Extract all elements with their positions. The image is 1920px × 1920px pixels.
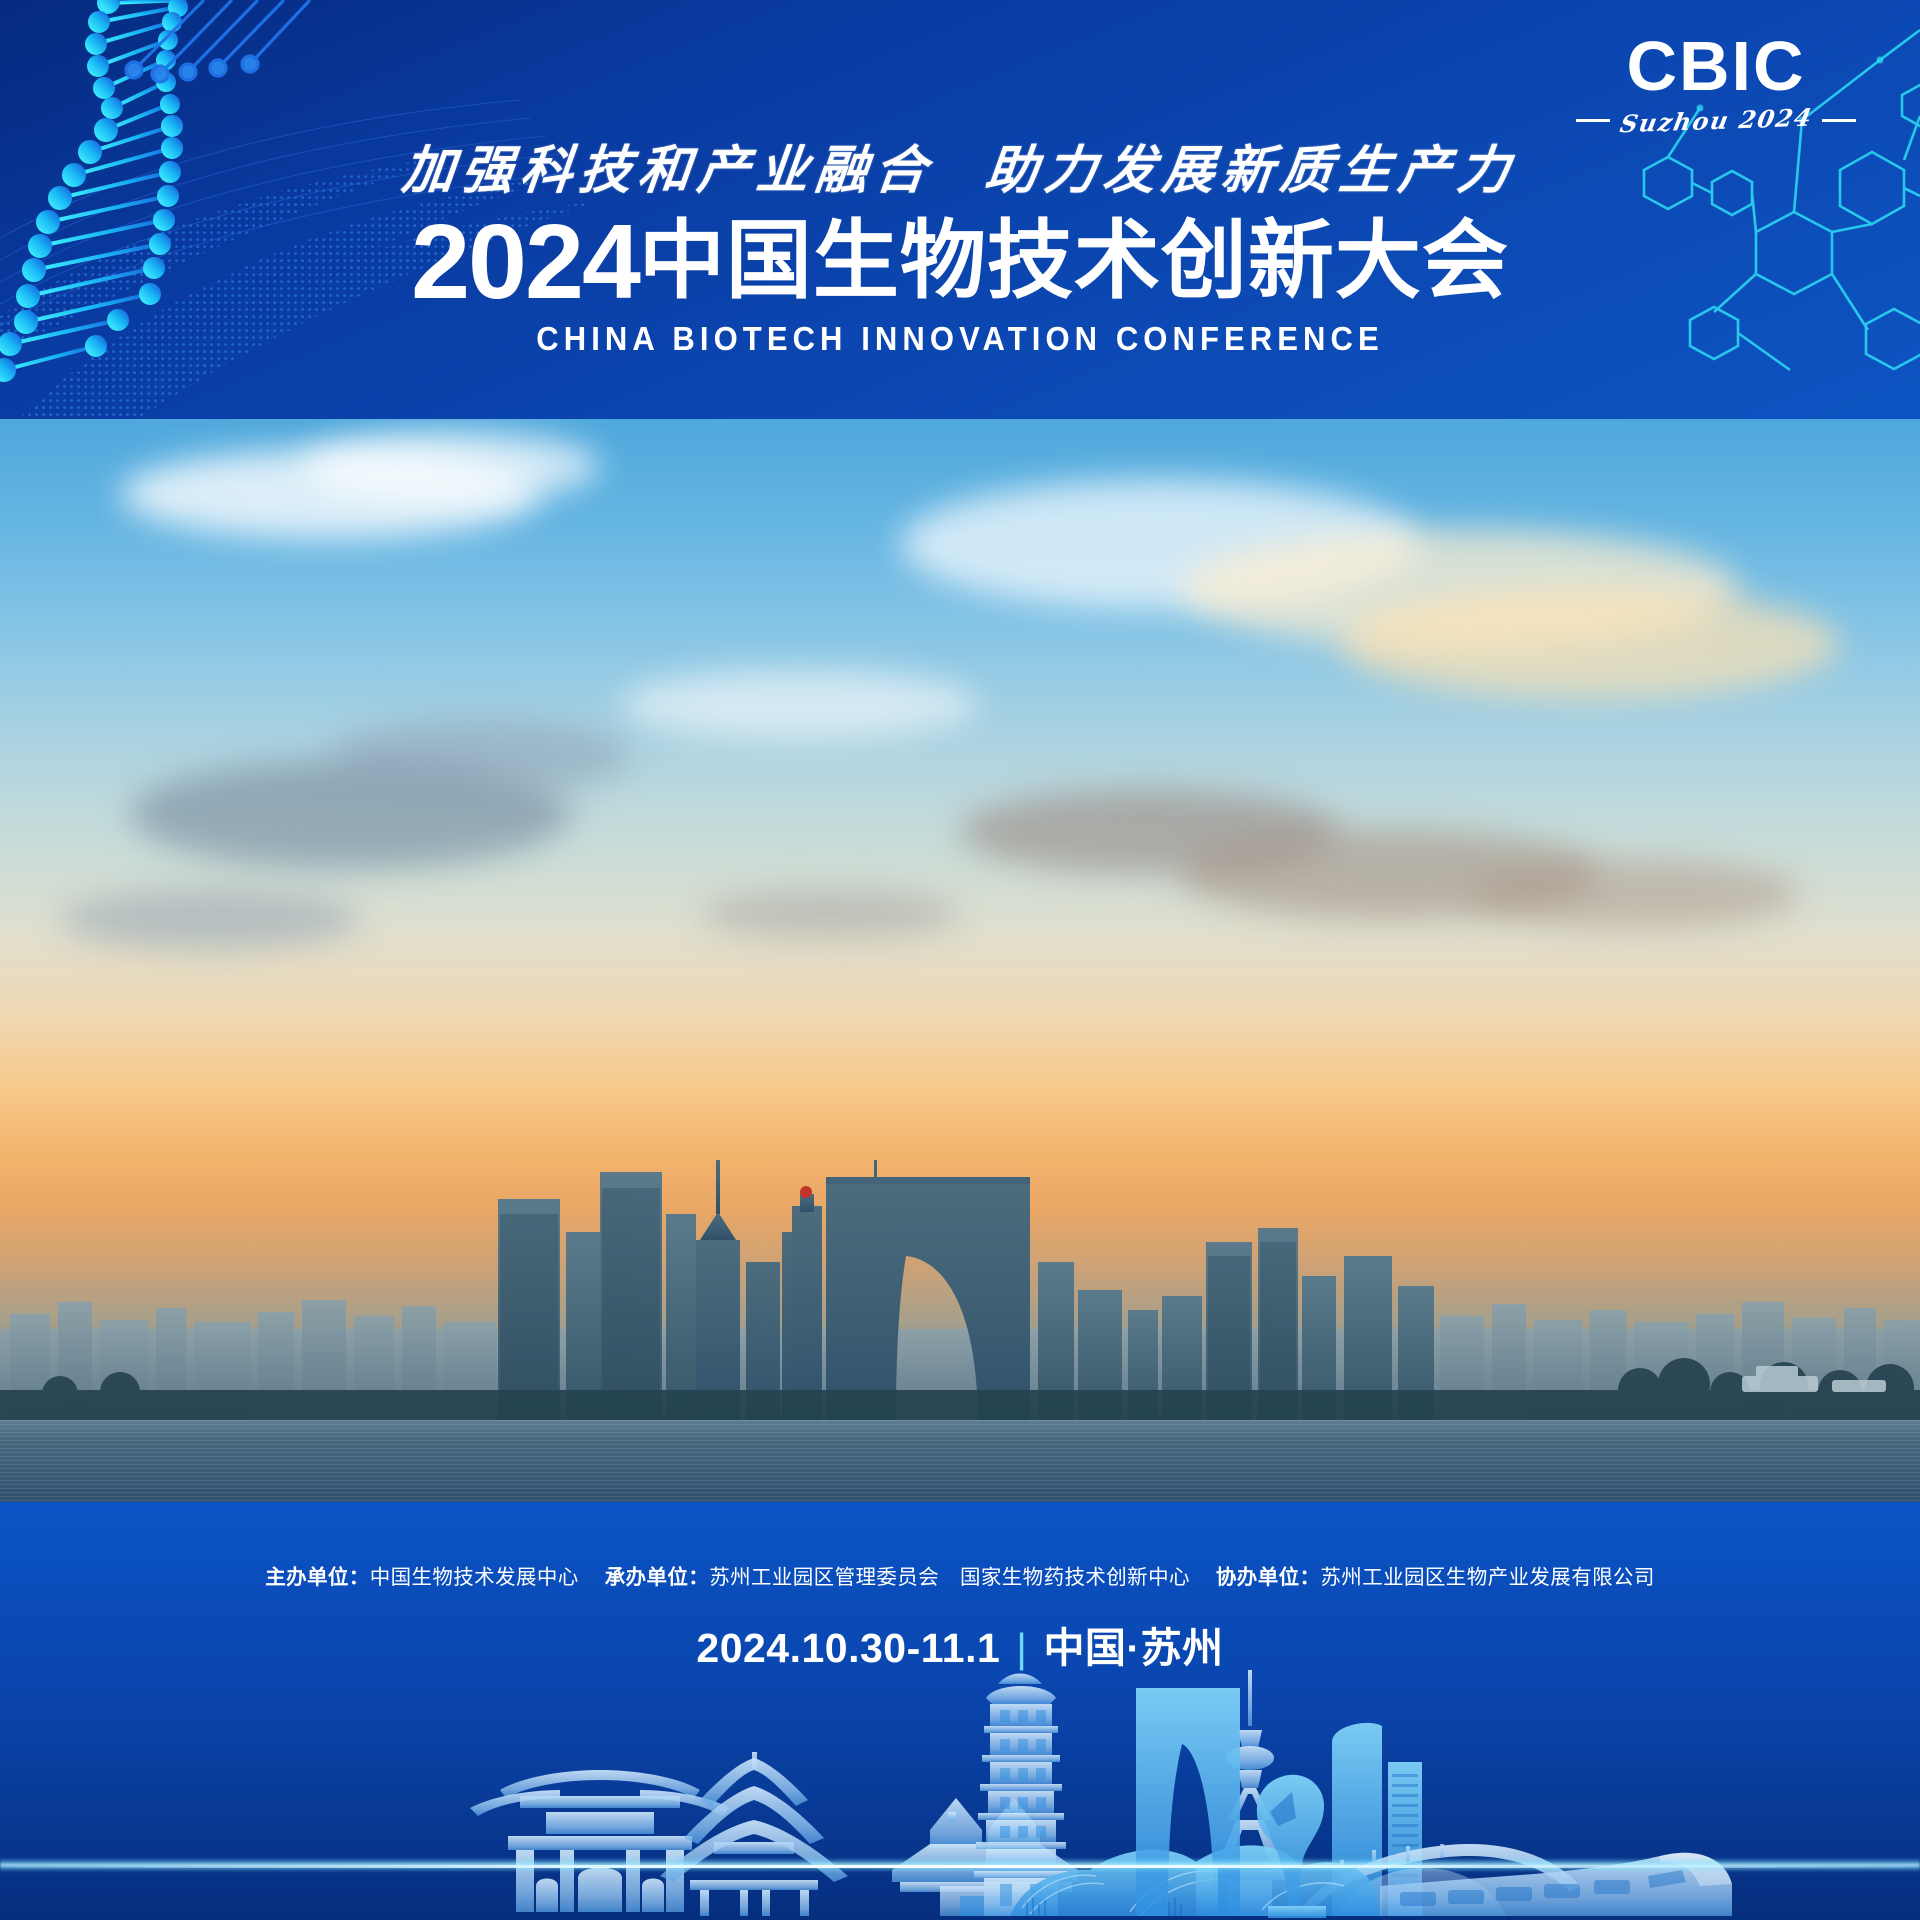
glow-line-core <box>0 1865 1920 1868</box>
organizer-2-value: 苏州工业园区生物产业发展有限公司 <box>1320 1566 1654 1589</box>
conference-location: 中国·苏州 <box>1043 1625 1223 1671</box>
cbic-logo-subtitle: Suzhou 2024 <box>1617 103 1814 139</box>
title-english: CHINA BIOTECH INNOVATION CONFERENCE <box>58 320 1863 358</box>
title-chinese: 中国生物技术创新大会 <box>639 213 1509 309</box>
poster-footer: 主办单位：中国生物技术发展中心承办单位：苏州工业园区管理委员会 国家生物药技术创… <box>0 1502 1920 1920</box>
cbic-logo-mark: CBIC <box>1566 28 1866 104</box>
organizer-0-label: 主办单位： <box>265 1566 370 1589</box>
separator: | <box>1000 1625 1043 1671</box>
science-cultural-center <box>1010 1845 1378 1916</box>
pagoda-pavilion <box>660 1752 848 1916</box>
dash-left-icon <box>1576 119 1610 122</box>
title-year: 2024 <box>411 203 639 321</box>
suzhou-landmarks-silhouette <box>0 1670 1920 1920</box>
organizer-0-value: 中国生物技术发展中心 <box>370 1566 579 1589</box>
cloud <box>1340 589 1840 699</box>
cloud <box>1470 859 1800 929</box>
organizer-1-label: 承办单位： <box>605 1566 710 1589</box>
page-title: 2024中国生物技术创新大会 <box>0 190 1920 323</box>
cloud <box>330 719 630 794</box>
cloud <box>620 669 980 739</box>
organizer-2-label: 协办单位： <box>1216 1566 1321 1589</box>
poster-header: 加强科技和产业融合 助力发展新质生产力 2024中国生物技术创新大会 CHINA… <box>0 0 1920 419</box>
city-skyline-silhouette <box>0 1064 1920 1424</box>
suzhou-skyline-photo <box>0 419 1920 1502</box>
cloud <box>700 889 960 939</box>
date-location-line: 2024.10.30-11.1|中国·苏州 <box>0 1614 1920 1674</box>
conference-date: 2024.10.30-11.1 <box>696 1625 1000 1671</box>
organizer-1-value: 苏州工业园区管理委员会 国家生物药技术创新中心 <box>709 1566 1190 1589</box>
cloud <box>300 431 600 501</box>
organizer-line: 主办单位：中国生物技术发展中心承办单位：苏州工业园区管理委员会 国家生物药技术创… <box>0 1560 1920 1590</box>
cbic-logo: CBIC Suzhou 2024 <box>1566 28 1866 138</box>
lake-water <box>0 1420 1920 1502</box>
cloud <box>60 889 360 949</box>
dash-right-icon <box>1822 119 1856 122</box>
cbic-logo-subtitle-row: Suzhou 2024 <box>1566 106 1866 135</box>
